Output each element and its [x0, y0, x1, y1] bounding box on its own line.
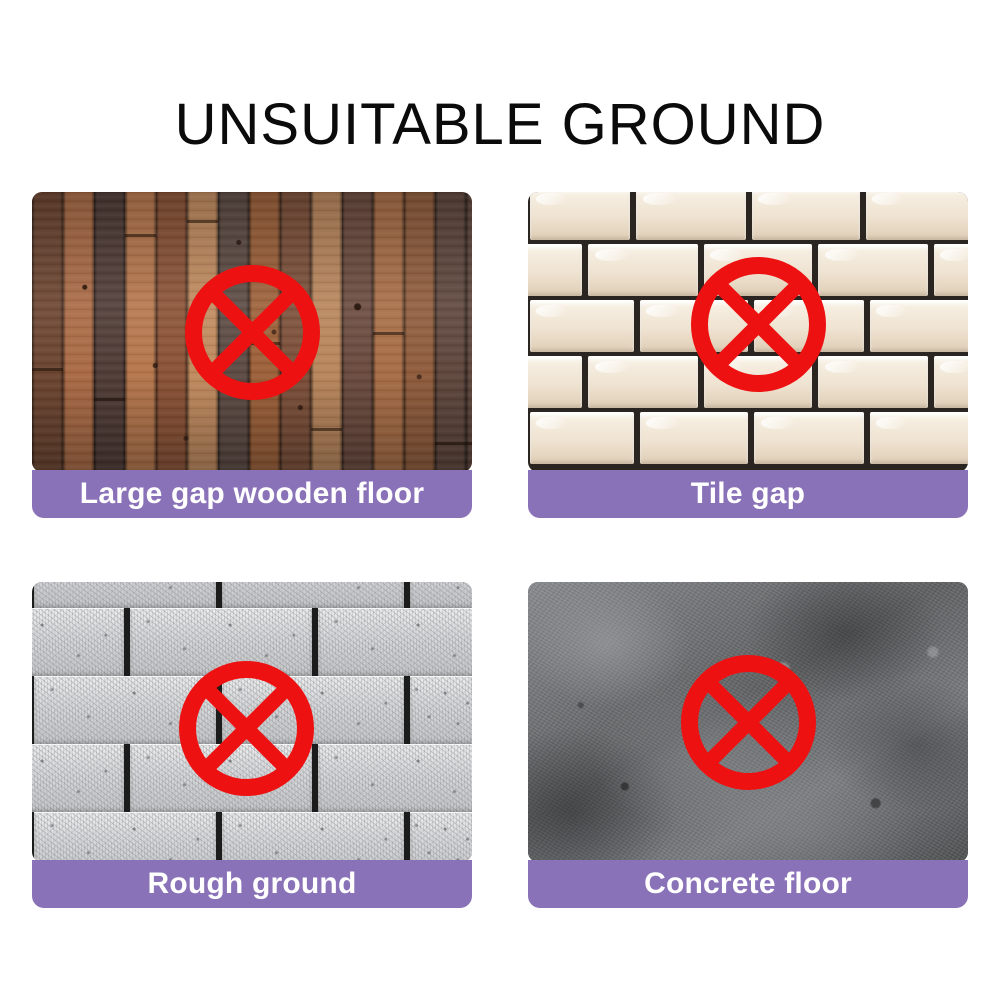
- caption-banner-rough-ground: Rough ground: [32, 860, 472, 908]
- panel-large-gap-wooden-floor[interactable]: Large gap wooden floor: [32, 192, 472, 518]
- prohibition-x-icon: [680, 654, 817, 791]
- panel-tile-gap[interactable]: Tile gap: [528, 192, 968, 518]
- photo-mottled-concrete: [528, 582, 968, 862]
- caption-banner-large-gap-wooden-floor: Large gap wooden floor: [32, 470, 472, 518]
- prohibition-x-icon: [178, 660, 315, 797]
- photo-wood-planks: [32, 192, 472, 472]
- photo-granite-block: [32, 582, 472, 862]
- panel-concrete-floor[interactable]: Concrete floor: [528, 582, 968, 908]
- prohibition-x-icon: [184, 264, 321, 401]
- caption-banner-tile-gap: Tile gap: [528, 470, 968, 518]
- page-title: UNSUITABLE GROUND: [0, 91, 1000, 158]
- photo-subway-tile: [528, 192, 968, 472]
- panel-rough-ground[interactable]: Rough ground: [32, 582, 472, 908]
- prohibition-x-icon: [690, 256, 827, 393]
- caption-label: Concrete floor: [644, 869, 852, 899]
- caption-banner-concrete-floor: Concrete floor: [528, 860, 968, 908]
- caption-label: Rough ground: [147, 869, 356, 899]
- caption-label: Tile gap: [691, 479, 805, 509]
- unsuitable-ground-grid: Large gap wooden floor: [32, 192, 968, 908]
- caption-label: Large gap wooden floor: [80, 479, 424, 509]
